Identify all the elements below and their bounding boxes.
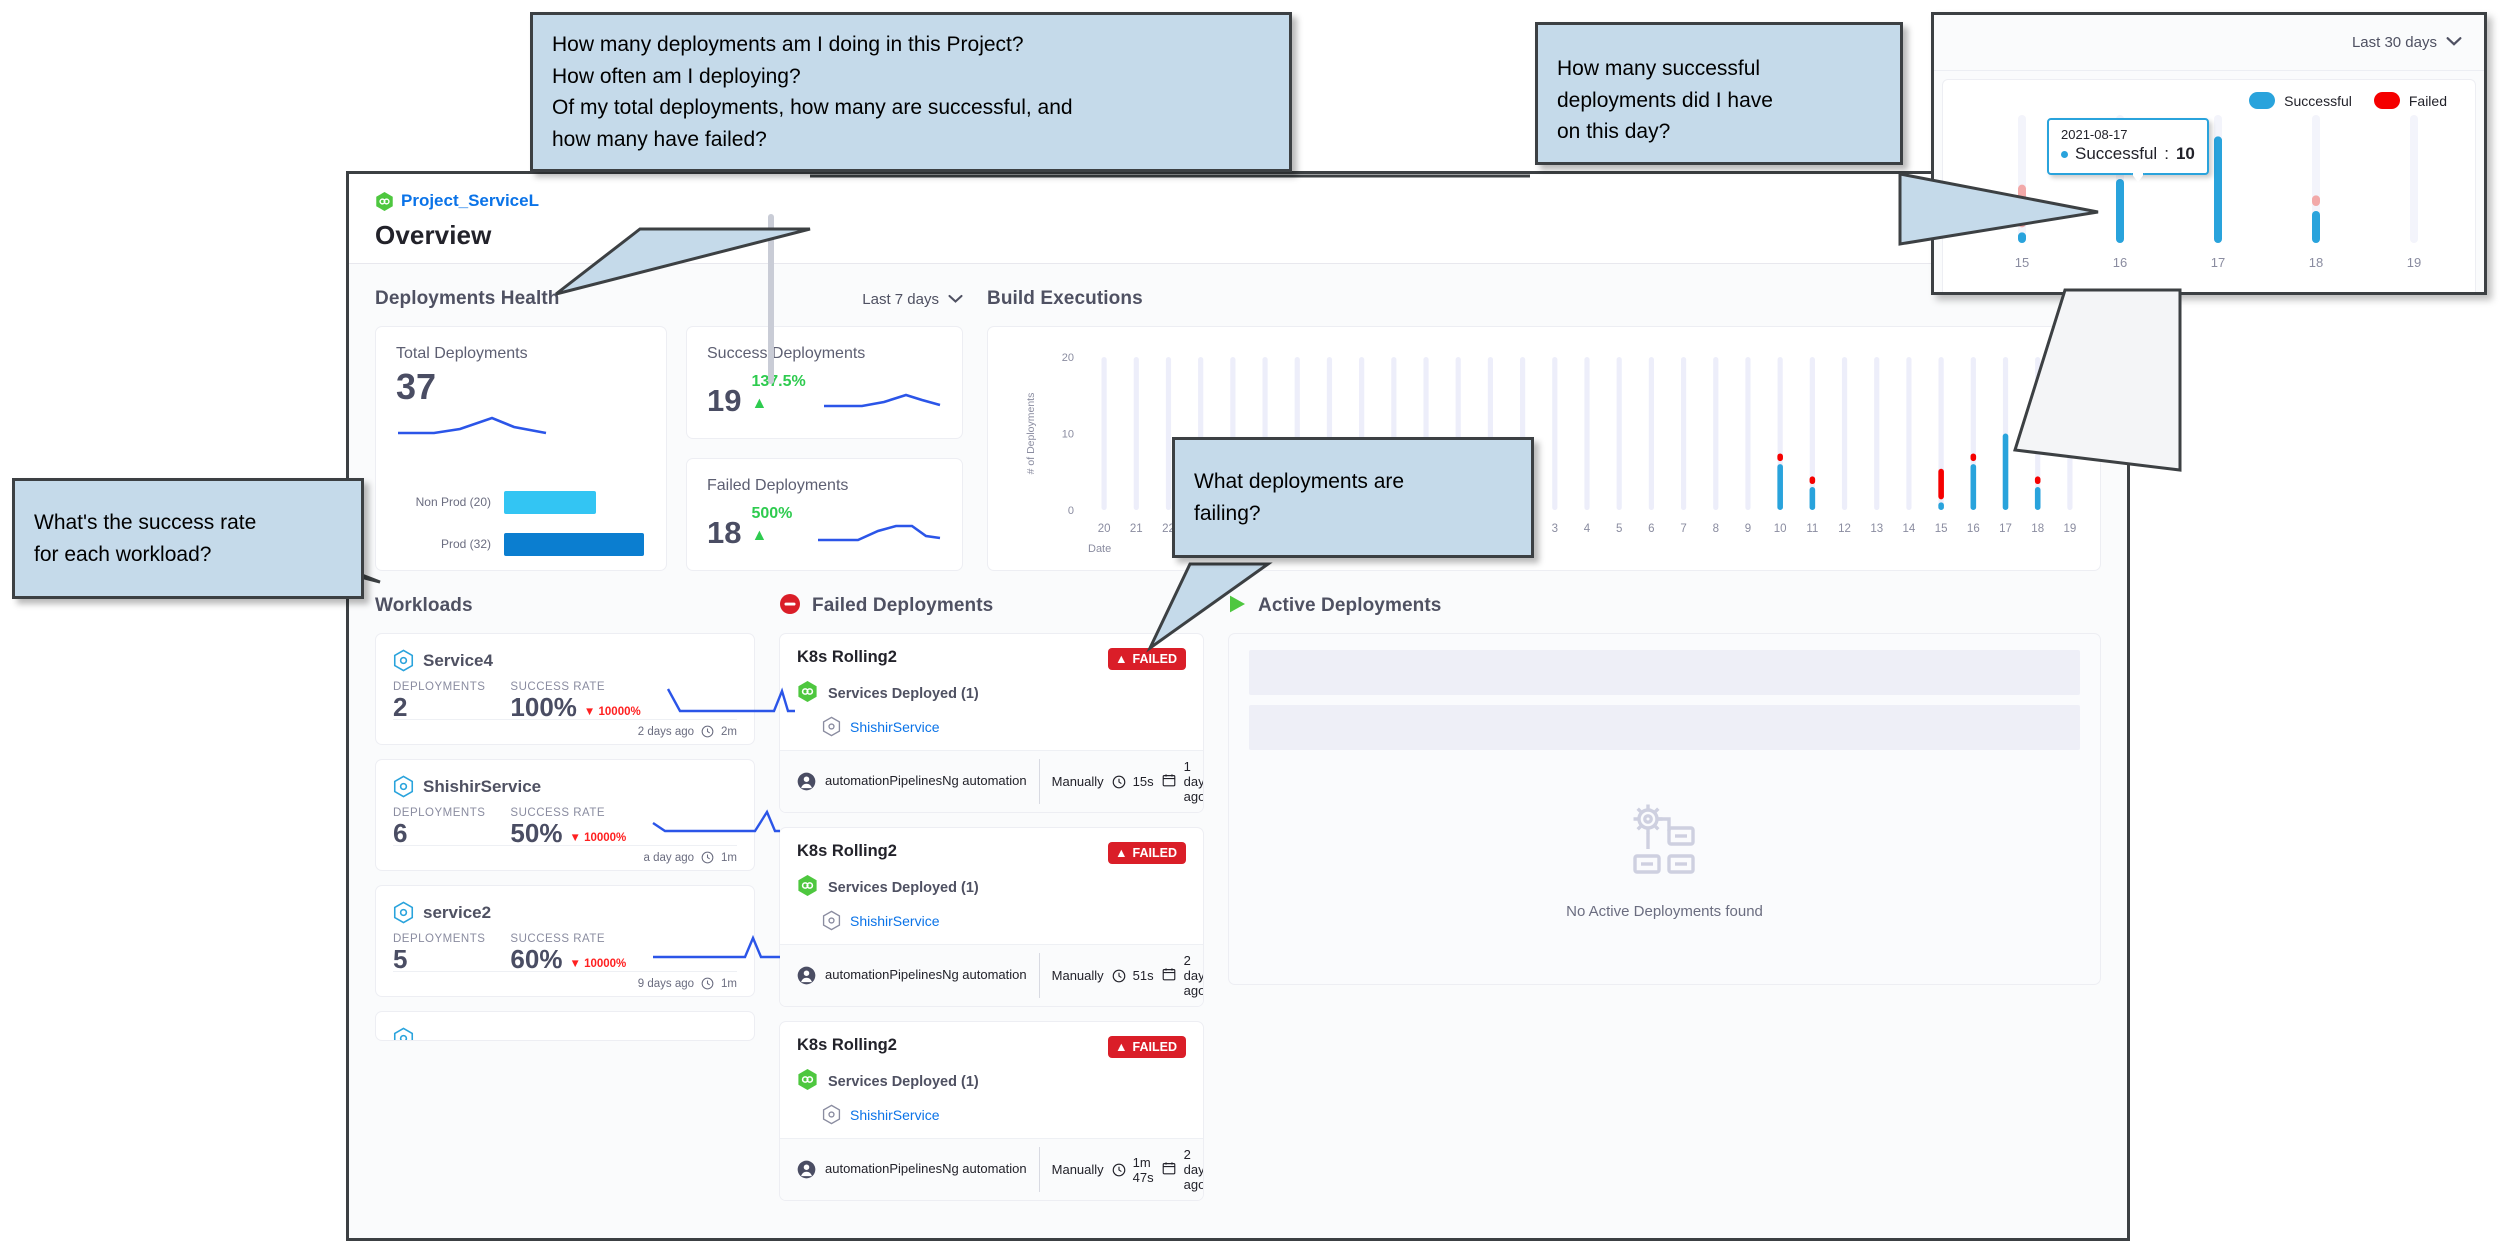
callout-line: How many deployments am I doing in this … [552, 29, 1270, 61]
callout-line: What deployments are [1194, 466, 1512, 498]
workload-success-rate-callout: What's the success rate for each workloa… [12, 478, 364, 599]
callout-line: for each workload? [34, 539, 342, 571]
callout-line: how many have failed? [552, 124, 1270, 156]
failing-deployments-callout: What deployments are failing? [1172, 437, 1534, 558]
callout-line: What's the success rate [34, 507, 342, 539]
callout-line: failing? [1194, 498, 1512, 530]
callout-line: on this day? [1557, 116, 1881, 148]
callout-line: How often am I deploying? [552, 61, 1270, 93]
callout-line: deployments did I have [1557, 85, 1881, 117]
callout-line: How many successful [1557, 53, 1881, 85]
callout-line: Of my total deployments, how many are su… [552, 92, 1270, 124]
callout-tails [0, 0, 2502, 1241]
successful-deployments-callout: How many successful deployments did I ha… [1535, 22, 1903, 165]
deployments-health-callout: How many deployments am I doing in this … [530, 12, 1292, 172]
